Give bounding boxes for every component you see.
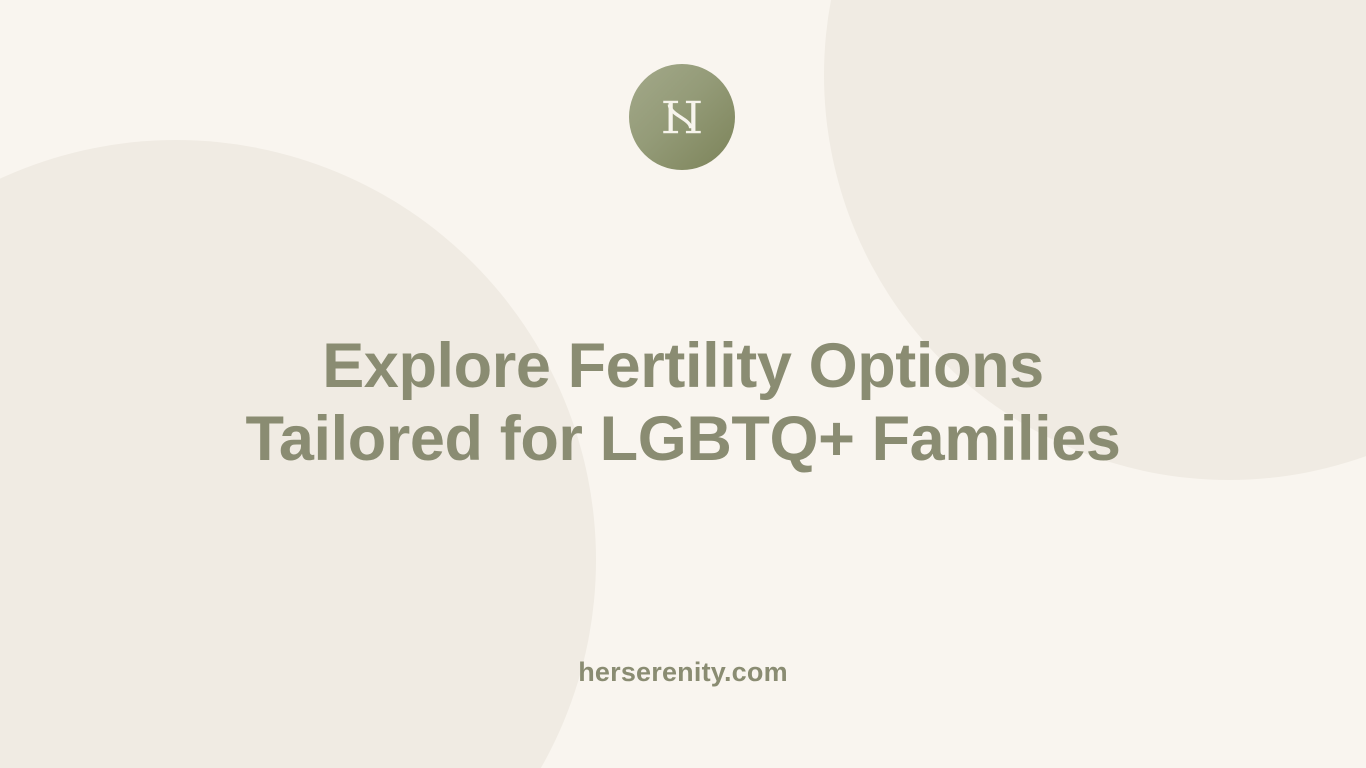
brand-logo-badge xyxy=(629,64,735,170)
page-title: Explore Fertility Options Tailored for L… xyxy=(0,330,1366,476)
site-url: herserenity.com xyxy=(0,655,1366,689)
h-monogram-icon xyxy=(654,89,710,145)
headline-line-2: Tailored for LGBTQ+ Families xyxy=(0,403,1366,476)
headline-line-1: Explore Fertility Options xyxy=(0,330,1366,403)
social-card: Explore Fertility Options Tailored for L… xyxy=(0,0,1366,768)
card-content: Explore Fertility Options Tailored for L… xyxy=(0,0,1366,768)
